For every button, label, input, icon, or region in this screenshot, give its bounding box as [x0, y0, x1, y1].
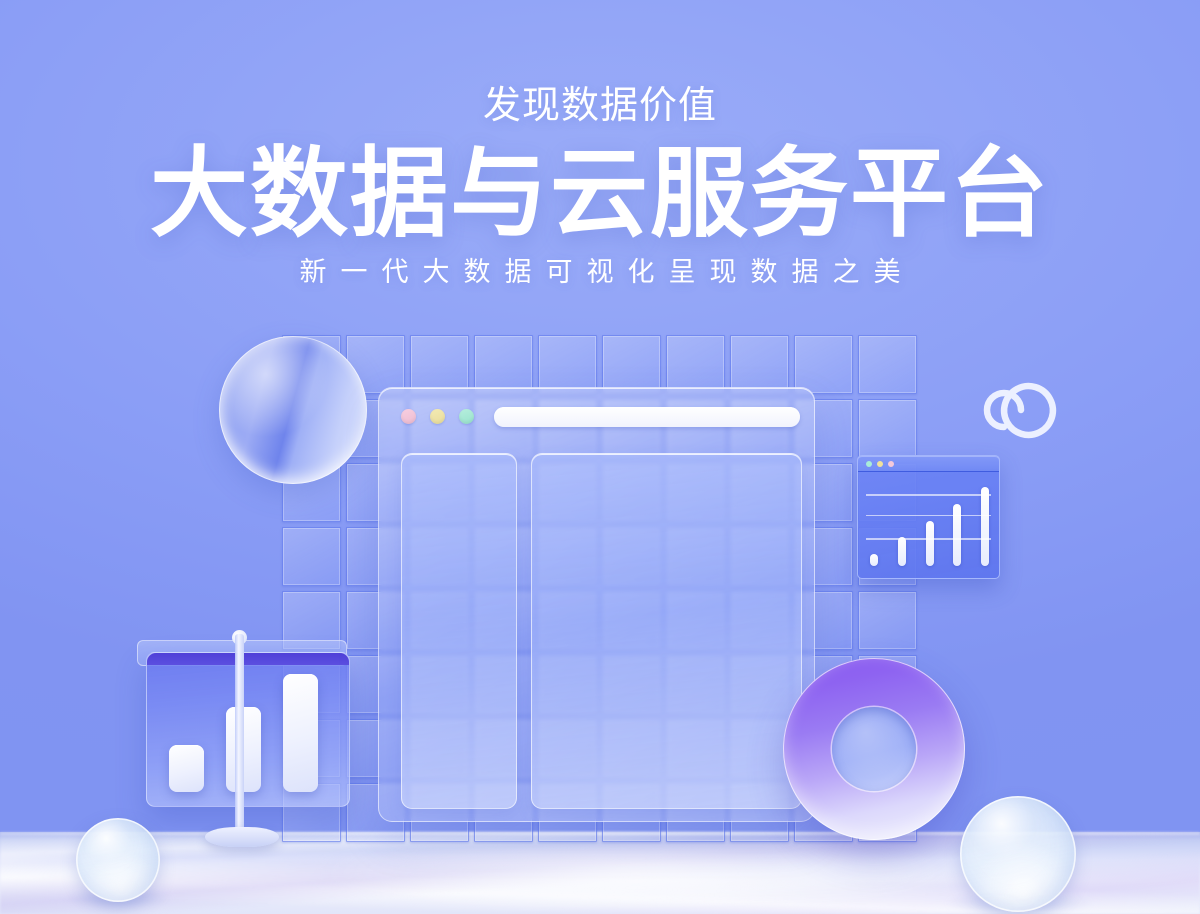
analytics-gridline [866, 494, 991, 496]
analytics-bar [926, 521, 934, 566]
chart-board [146, 652, 350, 807]
grid-pane [794, 335, 853, 394]
floor-highlight [264, 846, 1008, 900]
hero-eyebrow: 发现数据价值 [0, 86, 1200, 128]
analytics-bar [981, 487, 989, 566]
address-bar-input[interactable] [494, 407, 800, 427]
hero-banner: 发现数据价值 大数据与云服务平台 新一代大数据可视化呈现数据之美 [0, 0, 1200, 914]
analytics-window-titlebar [858, 456, 999, 472]
analytics-bars [870, 480, 989, 566]
glass-sphere-right [960, 796, 1076, 912]
browser-body [379, 445, 814, 821]
grid-pane [858, 399, 917, 458]
hero-text-block: 发现数据价值 大数据与云服务平台 新一代大数据可视化呈现数据之美 [0, 86, 1200, 288]
analytics-gridline [866, 538, 991, 540]
grid-pane [538, 335, 597, 394]
grid-pane [282, 527, 341, 586]
browser-window[interactable] [378, 387, 815, 822]
chart-board-bars [169, 674, 333, 792]
cloud-icon [978, 363, 1070, 443]
analytics-bar-chart [858, 472, 999, 578]
close-dot-icon[interactable] [401, 409, 416, 424]
analytics-bar [953, 504, 961, 566]
board-bar [169, 745, 204, 792]
browser-titlebar [379, 388, 814, 445]
window-dot-pink-icon[interactable] [888, 461, 894, 467]
donut-ring-shape [783, 658, 965, 840]
browser-content-panel[interactable] [531, 453, 802, 809]
analytics-bar [898, 537, 906, 566]
stand-base [205, 827, 279, 847]
chart-board-header [147, 653, 349, 665]
analytics-gridline [866, 515, 991, 517]
grid-pane [858, 591, 917, 650]
hero-subtitle: 新一代大数据可视化呈现数据之美 [0, 256, 1200, 288]
analytics-bar [870, 554, 878, 566]
stand-pole [235, 634, 244, 836]
grid-pane [474, 335, 533, 394]
page-title: 大数据与云服务平台 [0, 142, 1200, 246]
board-bar [283, 674, 318, 792]
glass-disc-shape [219, 336, 367, 484]
maximize-dot-icon[interactable] [459, 409, 474, 424]
grid-pane [730, 335, 789, 394]
donut-ring-hole [832, 707, 916, 791]
grid-pane [666, 335, 725, 394]
window-dot-yellow-icon[interactable] [877, 461, 883, 467]
analytics-window[interactable] [857, 455, 1000, 579]
grid-pane [858, 335, 917, 394]
browser-sidebar-panel[interactable] [401, 453, 517, 809]
glass-sphere-left [76, 818, 160, 902]
minimize-dot-icon[interactable] [430, 409, 445, 424]
grid-pane [410, 335, 469, 394]
window-dot-mint-icon[interactable] [866, 461, 872, 467]
grid-pane [602, 335, 661, 394]
